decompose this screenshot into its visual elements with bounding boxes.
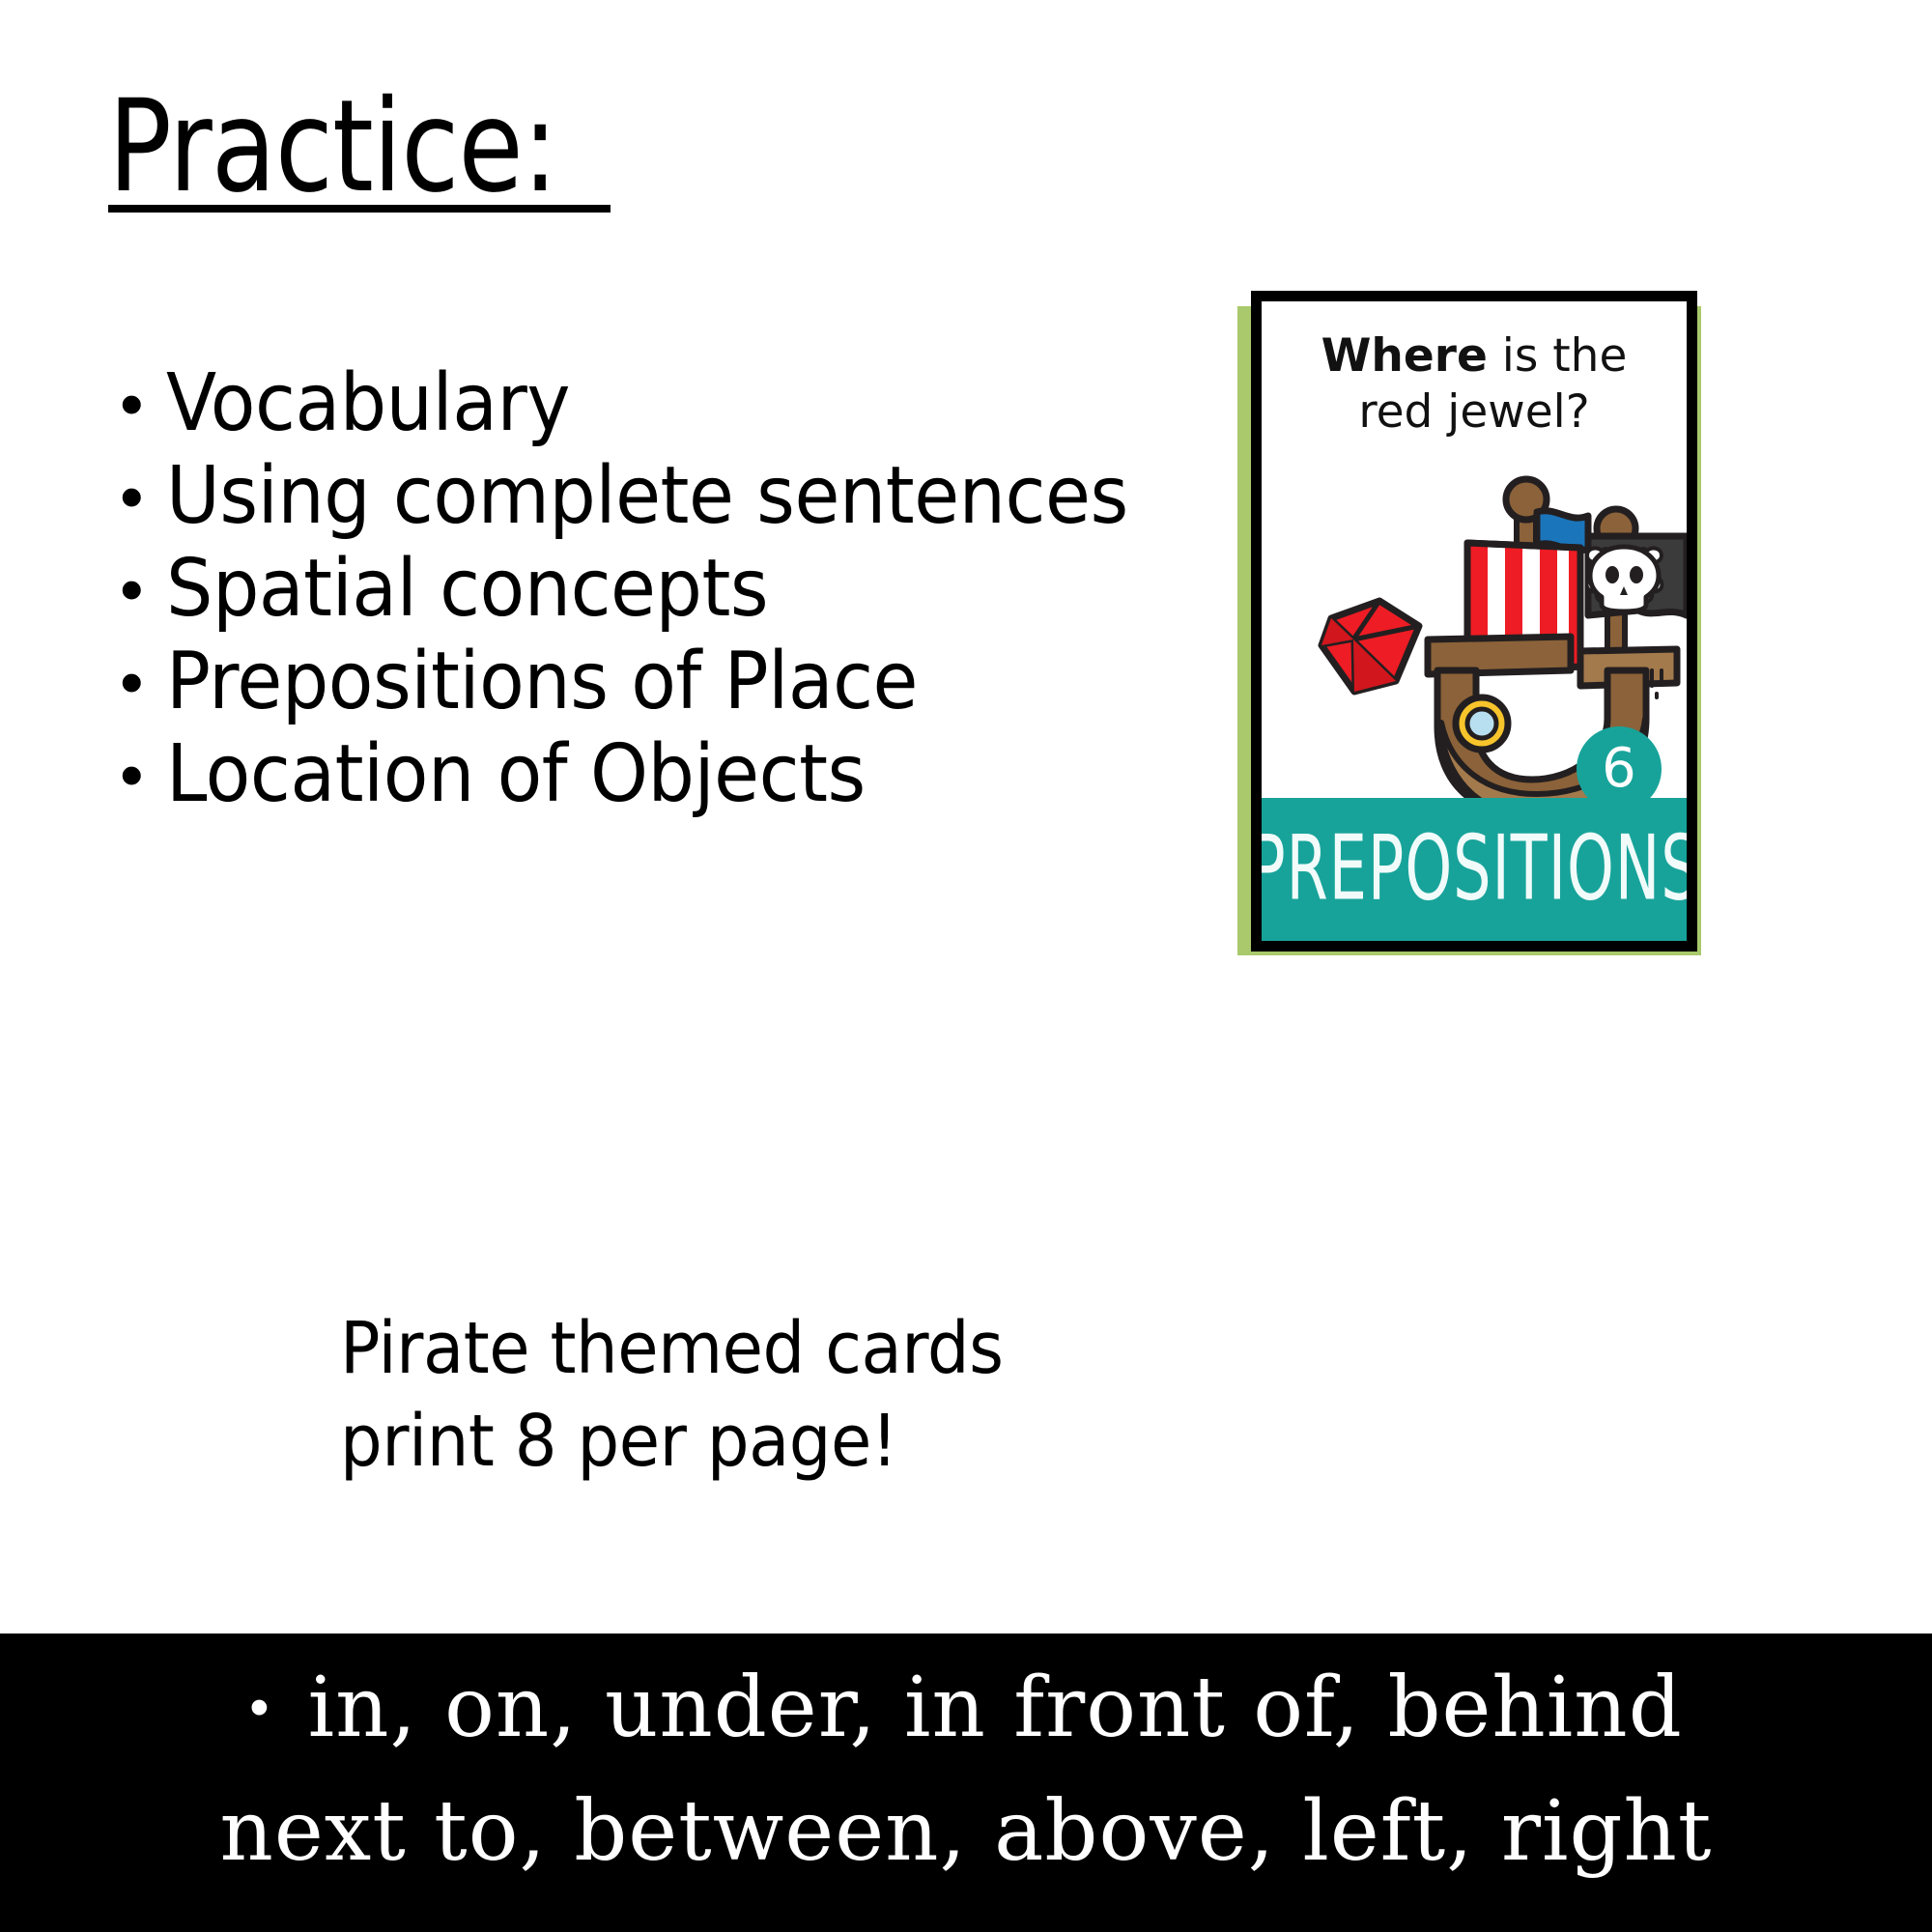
- bullet-marker-icon: •: [106, 359, 166, 448]
- page-title: Practice:: [108, 83, 557, 211]
- sub-note-line-1: Pirate themed cards: [340, 1302, 1003, 1395]
- card-question: Where is the red jewel?: [1262, 328, 1687, 440]
- task-card: Where is the red jewel?: [1251, 291, 1697, 952]
- bullet-marker-icon: •: [106, 638, 166, 726]
- porthole-icon: [1456, 697, 1508, 750]
- list-item-label: Location of Objects: [166, 730, 1171, 819]
- card-question-line-2: red jewel?: [1358, 385, 1589, 439]
- bullet-marker-icon: •: [106, 452, 166, 541]
- list-item: • Prepositions of Place: [106, 638, 1246, 726]
- bottom-bar-line-2-row: next to, between, above, left, right: [0, 1778, 1932, 1885]
- list-item-label: Spatial concepts: [166, 545, 1171, 634]
- list-item-label: Vocabulary: [166, 359, 1171, 448]
- list-item: • Using complete sentences: [106, 452, 1246, 541]
- list-item-label: Using complete sentences: [166, 452, 1171, 541]
- sub-note-line-2: print 8 per page!: [340, 1395, 1003, 1488]
- bullet-marker-icon: •: [106, 730, 166, 819]
- sub-note: Pirate themed cards print 8 per page!: [340, 1302, 1003, 1488]
- skull-and-crossbones-flag-icon: [1587, 509, 1687, 665]
- bullet-marker-icon: •: [106, 545, 166, 634]
- list-item: • Location of Objects: [106, 730, 1246, 819]
- bottom-bar-line-1: in, on, under, in front of, behind: [308, 1655, 1683, 1761]
- slide-canvas: Practice: • Vocabulary • Using complete …: [0, 0, 1932, 1634]
- task-card-preview: Where is the red jewel?: [1234, 291, 1707, 955]
- bottom-preposition-bar: • in, on, under, in front of, behind nex…: [0, 1634, 1932, 1932]
- card-question-rest: is the: [1488, 329, 1628, 383]
- bottom-bar-line-1-row: • in, on, under, in front of, behind: [0, 1655, 1932, 1761]
- card-banner: PREPOSITIONS: [1262, 798, 1687, 941]
- red-jewel-icon: [1321, 601, 1419, 692]
- page-title-underline: [108, 205, 611, 213]
- bullet-marker-icon: •: [249, 1655, 269, 1761]
- practice-bullet-list: • Vocabulary • Using complete sentences …: [106, 359, 1246, 823]
- card-banner-label: PREPOSITIONS: [1251, 817, 1697, 921]
- bottom-bar-line-2: next to, between, above, left, right: [220, 1783, 1713, 1880]
- list-item: • Spatial concepts: [106, 545, 1246, 634]
- list-item-label: Prepositions of Place: [166, 638, 1171, 726]
- card-question-keyword: Where: [1321, 329, 1488, 383]
- list-item: • Vocabulary: [106, 359, 1246, 448]
